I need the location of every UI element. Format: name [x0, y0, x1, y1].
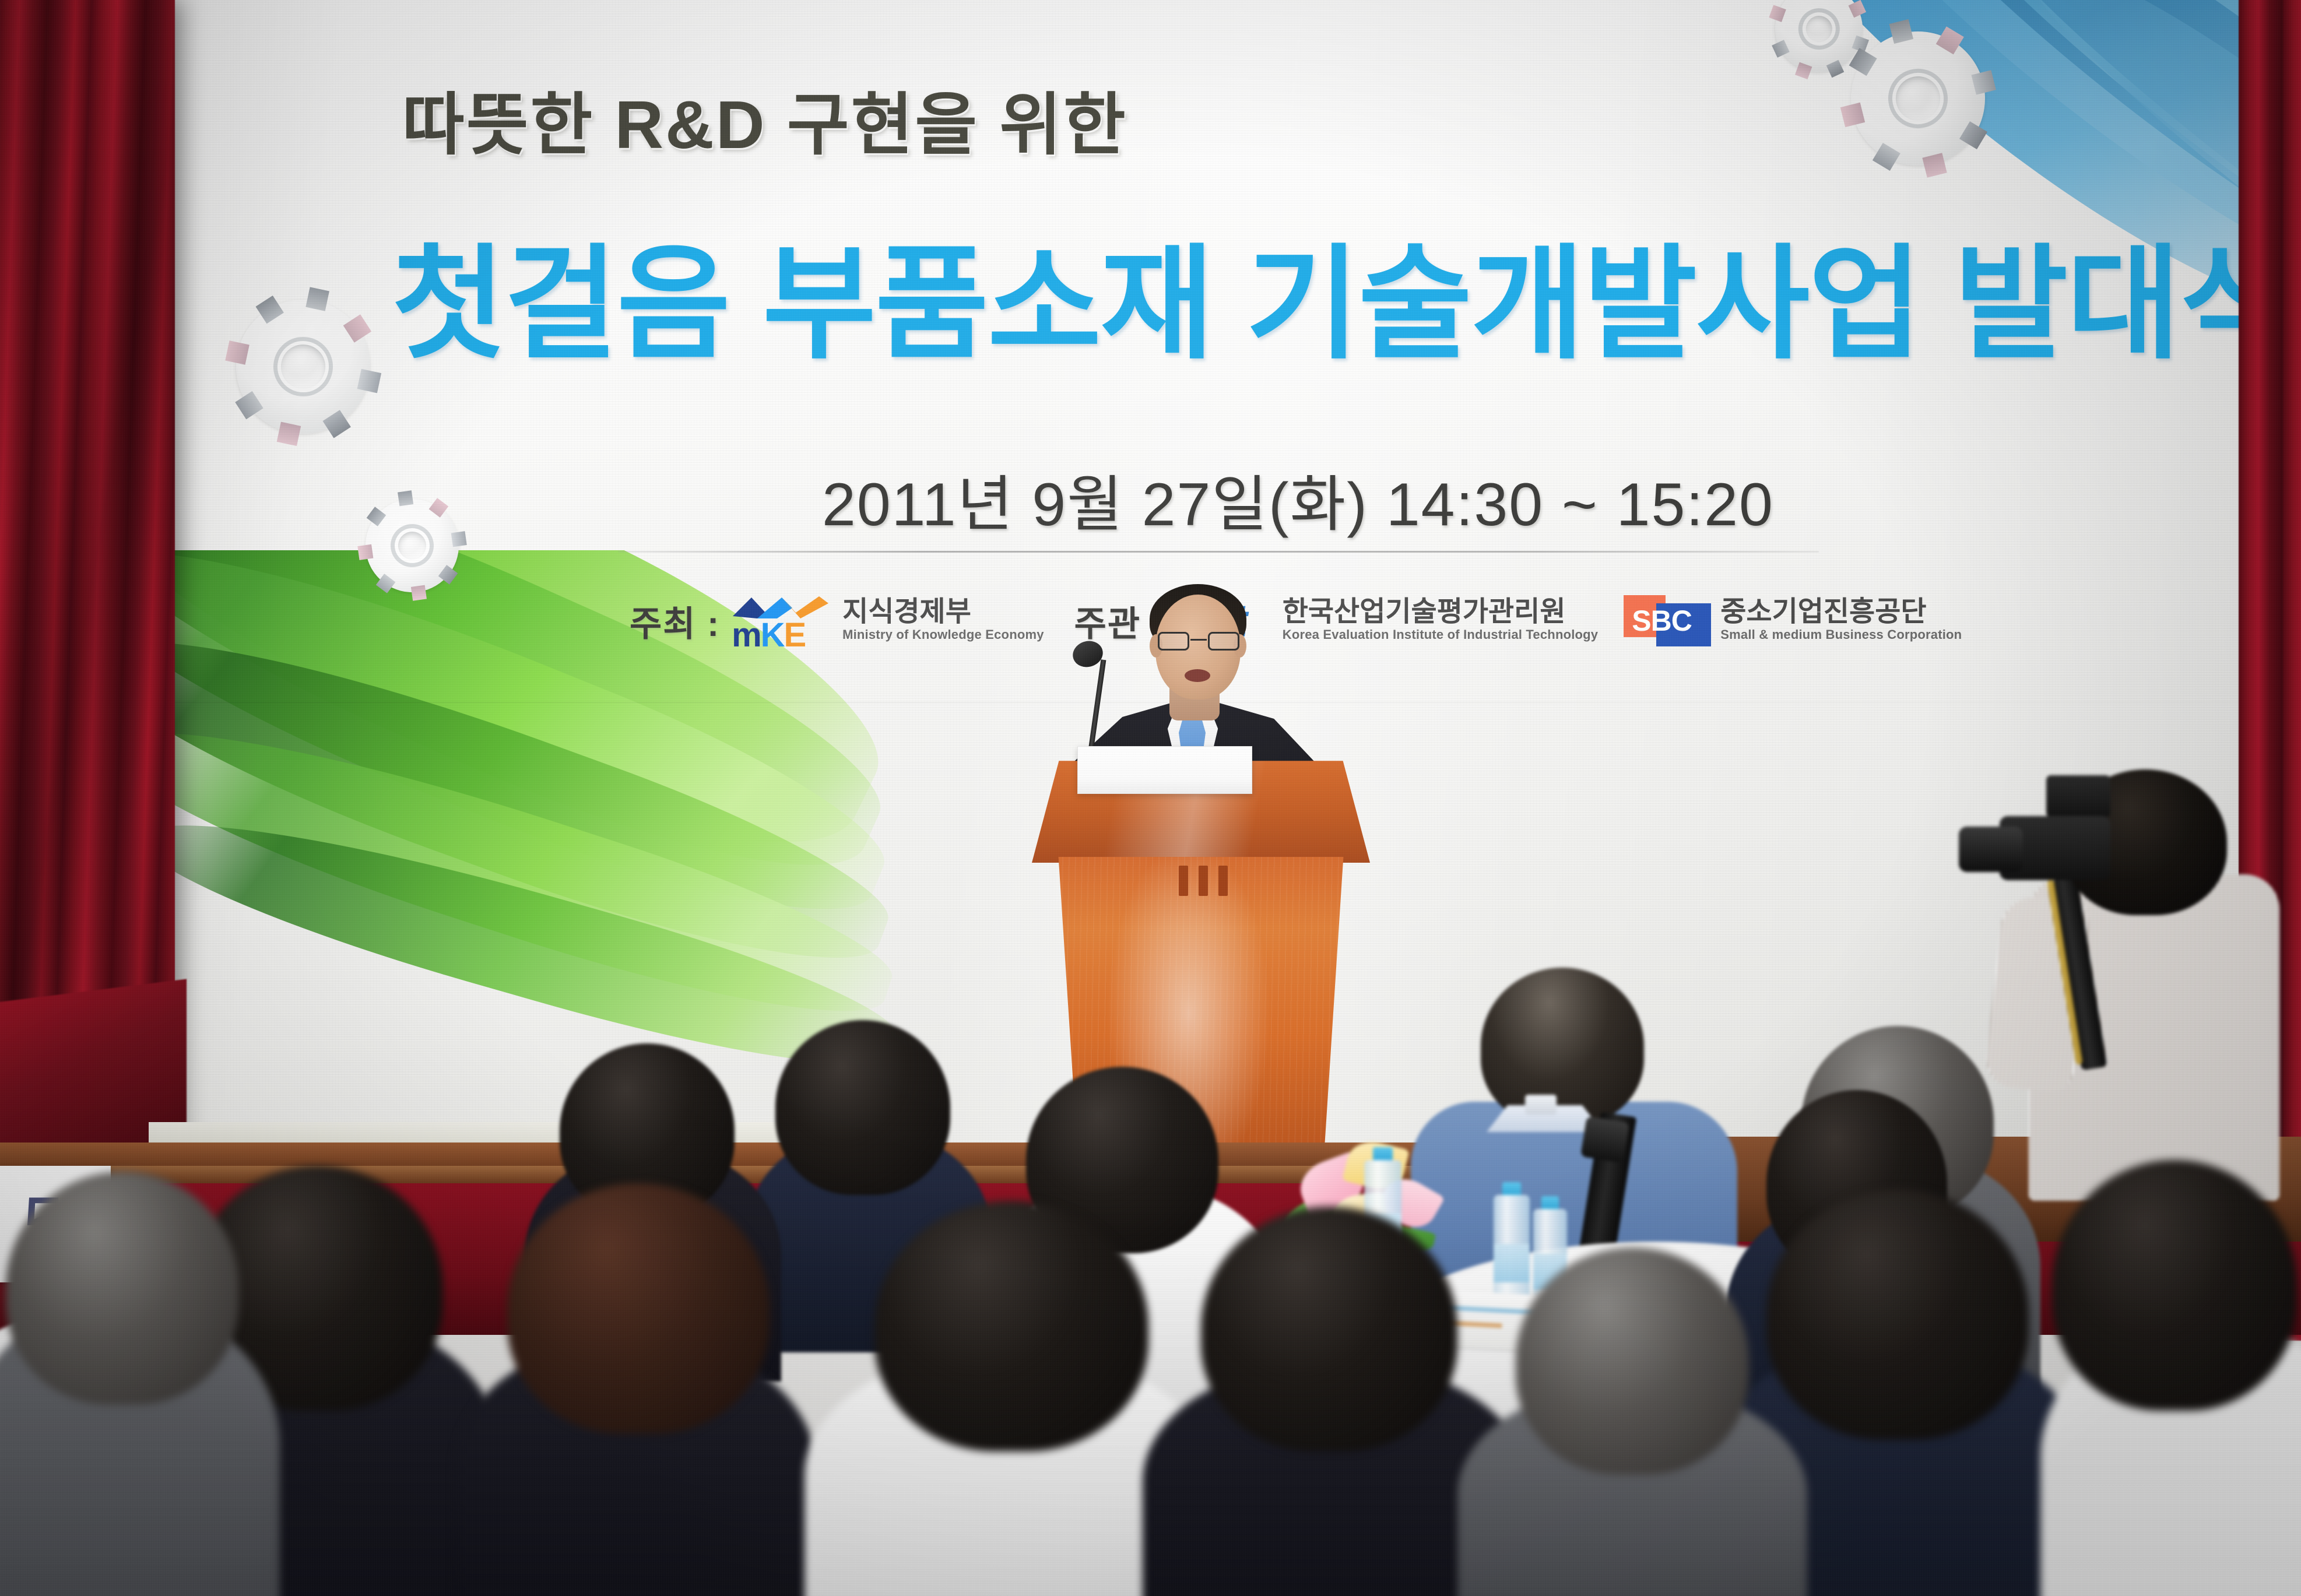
foreground-audience-head: [1516, 1247, 1749, 1475]
sponsor-sbc-group: SBC 중소기업진흥공단 Small & medium Business Cor…: [1624, 595, 1962, 646]
foreground-audience-head: [874, 1201, 1148, 1451]
event-photo-scene: 따뜻한 R&D 구현을 위한 첫걸음 부품소재 기술개발사업 발대식 2011년…: [0, 0, 2301, 1596]
sbc-name-kr: 중소기업진흥공단: [1720, 598, 1962, 626]
glasses-lens-left: [1158, 632, 1189, 651]
lectern-slot: [1218, 866, 1228, 896]
audience-head: [775, 1020, 950, 1195]
banner-divider: [618, 551, 1819, 553]
sponsor-host-group: 주최 : mKE 지식경제부 Ministry of Knowledge Eco…: [630, 592, 1044, 650]
speaker-mouth: [1185, 669, 1210, 682]
foreground-audience-head: [6, 1172, 239, 1405]
camera-flash-icon: [2046, 775, 2110, 817]
sbc-name-en: Small & medium Business Corporation: [1720, 626, 1962, 644]
mke-logo: mKE: [729, 592, 833, 650]
foreground-audience-head: [507, 1183, 770, 1434]
bottle-label: [1494, 1244, 1530, 1282]
water-bottle-icon: [1494, 1182, 1530, 1310]
press-photographer: [1976, 752, 2301, 1195]
glasses-icon: [1158, 632, 1239, 652]
gear-icon: [224, 287, 383, 447]
host-role-label: 주최 :: [630, 596, 720, 646]
gear-icon: [360, 493, 465, 599]
lectern-sign-panel: [1077, 746, 1252, 794]
name-badge: [1525, 1095, 1557, 1115]
banner-main-title: 첫걸음 부품소재 기술개발사업 발대식: [392, 204, 2292, 383]
foreground-audience-head: [1766, 1189, 2029, 1440]
host-name-kr: 지식경제부: [842, 598, 1044, 626]
foreground-audience-head: [1201, 1207, 1457, 1451]
banner-datetime: 2011년 9월 27일(화) 14:30 ~ 15:20: [822, 455, 1774, 543]
strap-buckle-icon: [1580, 1116, 1629, 1163]
foreground-audience-head: [2052, 1160, 2297, 1411]
blue-shirt-head: [1481, 968, 1644, 1125]
banner-headline: 따뜻한 R&D 구현을 위한: [402, 70, 1127, 168]
sbc-logo: SBC: [1624, 595, 1711, 646]
sbc-name-block: 중소기업진흥공단 Small & medium Business Corpora…: [1720, 598, 1962, 644]
lectern-slot: [1199, 866, 1208, 896]
mke-logotype: mKE: [732, 618, 805, 652]
sbc-logotype: SBC: [1632, 603, 1711, 638]
host-name-block: 지식경제부 Ministry of Knowledge Economy: [842, 598, 1044, 644]
camera-lens-icon: [1959, 827, 2023, 872]
host-name-en: Ministry of Knowledge Economy: [842, 626, 1044, 644]
glasses-lens-right: [1208, 632, 1239, 651]
lectern-slot: [1179, 866, 1188, 896]
glasses-bridge: [1190, 639, 1207, 641]
